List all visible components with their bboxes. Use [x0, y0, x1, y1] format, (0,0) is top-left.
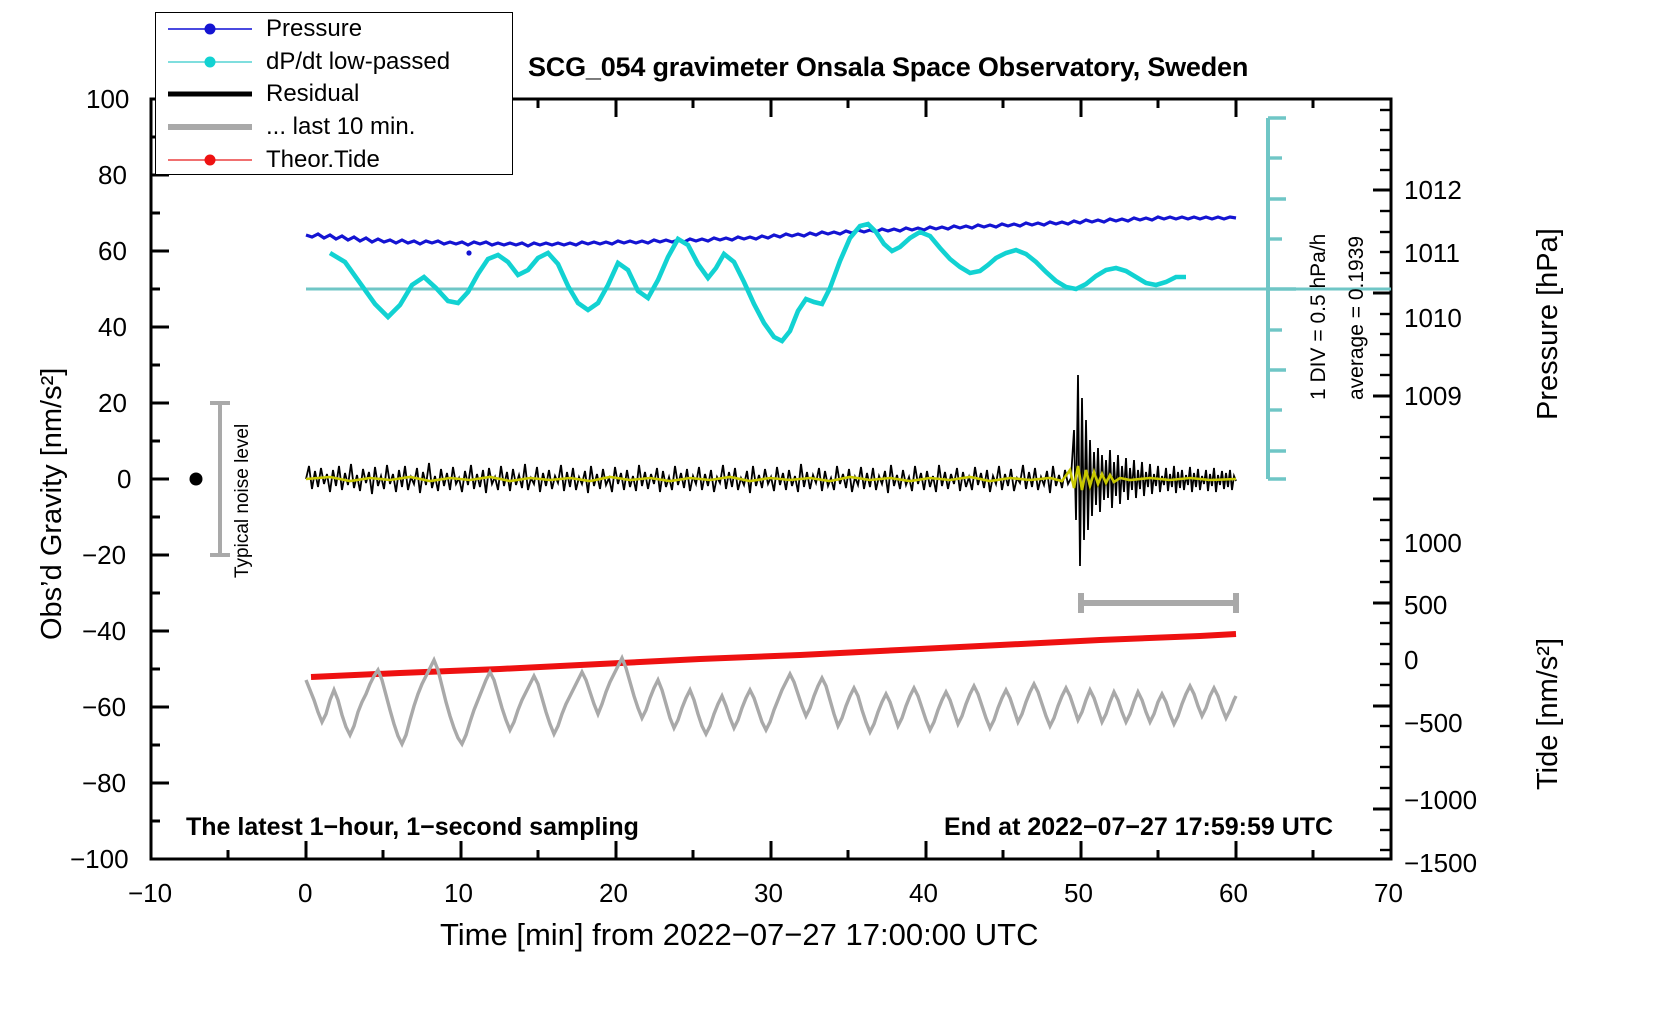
- x-tick-10: 10: [444, 878, 473, 909]
- y-tick-tide-1000: 1000: [1404, 528, 1462, 559]
- legend-label-theortide: Theor.Tide: [266, 146, 380, 174]
- y-tick-left-m20: −20: [82, 540, 126, 571]
- last10min-span-marker: [1081, 593, 1236, 613]
- legend-item-pressure: Pressure: [156, 13, 512, 46]
- legend-item-last10min: ... last 10 min.: [156, 111, 512, 144]
- dpdt-scale-bar: [1268, 118, 1296, 479]
- legend-label-pressure: Pressure: [266, 15, 362, 43]
- x-tick-60: 60: [1219, 878, 1248, 909]
- y-tick-tide-500: 500: [1404, 590, 1447, 621]
- pressure-outlier-point: [466, 250, 471, 255]
- series-theor-tide: [311, 634, 1236, 677]
- y-tick-left-m40: −40: [82, 616, 126, 647]
- dpdt-scale-annotation: 1 DIV = 0.5 hPa/h: [1307, 234, 1331, 400]
- typical-noise-level-label: Typical noise level: [232, 424, 254, 578]
- legend-label-residual: Residual: [266, 80, 359, 108]
- y-tick-tide-m1000: −1000: [1404, 785, 1477, 816]
- footer-left-note: The latest 1−hour, 1−second sampling: [186, 813, 639, 842]
- x-tick-40: 40: [909, 878, 938, 909]
- y-axis-pressure-label: Pressure [hPa]: [1532, 228, 1565, 420]
- legend-item-residual: Residual: [156, 78, 512, 111]
- x-tick-m10: −10: [128, 878, 172, 909]
- series-pressure: [306, 217, 1236, 246]
- y-tick-left-60: 60: [98, 236, 127, 267]
- y-tick-tide-0: 0: [1404, 645, 1418, 676]
- x-tick-0: 0: [298, 878, 312, 909]
- legend-label-dpdt: dP/dt low-passed: [266, 48, 450, 76]
- page-title: SCG_054 gravimeter Onsala Space Observat…: [528, 52, 1248, 83]
- y-tick-pressure-1009: 1009: [1404, 381, 1462, 412]
- y-tick-left-m60: −60: [82, 692, 126, 723]
- y-tick-pressure-1010: 1010: [1404, 303, 1462, 334]
- series-residual: [306, 375, 1236, 566]
- y-tick-left-20: 20: [98, 388, 127, 419]
- y-tick-left-m100: −100: [70, 844, 129, 875]
- y-tick-tide-m1500: −1500: [1404, 848, 1477, 879]
- y-tick-left-0: 0: [117, 464, 131, 495]
- legend-swatch-last10min: [168, 111, 252, 144]
- y-tick-left-40: 40: [98, 312, 127, 343]
- x-tick-70: 70: [1374, 878, 1403, 909]
- dpdt-average-annotation: average = 0.1939: [1345, 236, 1369, 400]
- legend-item-theortide: Theor.Tide: [156, 143, 512, 176]
- x-axis-label: Time [min] from 2022−07−27 17:00:00 UTC: [440, 917, 1039, 953]
- legend: Pressure dP/dt low-passed Residual ... l…: [155, 12, 513, 175]
- legend-swatch-pressure: [168, 13, 252, 46]
- legend-label-last10min: ... last 10 min.: [266, 113, 415, 141]
- y-tick-left-80: 80: [98, 160, 127, 191]
- y-tick-tide-m500: −500: [1404, 708, 1463, 739]
- y-tick-pressure-1011: 1011: [1404, 238, 1460, 269]
- legend-swatch-residual: [168, 78, 252, 111]
- legend-swatch-dpdt: [168, 46, 252, 79]
- chart-root: SCG_054 gravimeter Onsala Space Observat…: [0, 0, 1660, 1020]
- x-tick-50: 50: [1064, 878, 1093, 909]
- typical-noise-level-marker: [190, 403, 231, 555]
- y-tick-left-100: 100: [86, 84, 129, 115]
- x-tick-20: 20: [599, 878, 628, 909]
- y-axis-left-ticks: [151, 99, 169, 859]
- y-tick-pressure-1012: 1012: [1404, 175, 1462, 206]
- y-axis-right-ticks: [1373, 110, 1391, 850]
- y-tick-left-m80: −80: [82, 768, 126, 799]
- y-axis-left-label: Obs’d Gravity [nm/s²]: [36, 368, 69, 640]
- x-tick-30: 30: [754, 878, 783, 909]
- y-axis-tide-label: Tide [nm/s²]: [1532, 638, 1565, 790]
- footer-right-note: End at 2022−07−27 17:59:59 UTC: [944, 813, 1333, 842]
- legend-swatch-theortide: [168, 143, 252, 176]
- legend-item-dpdt: dP/dt low-passed: [156, 46, 512, 79]
